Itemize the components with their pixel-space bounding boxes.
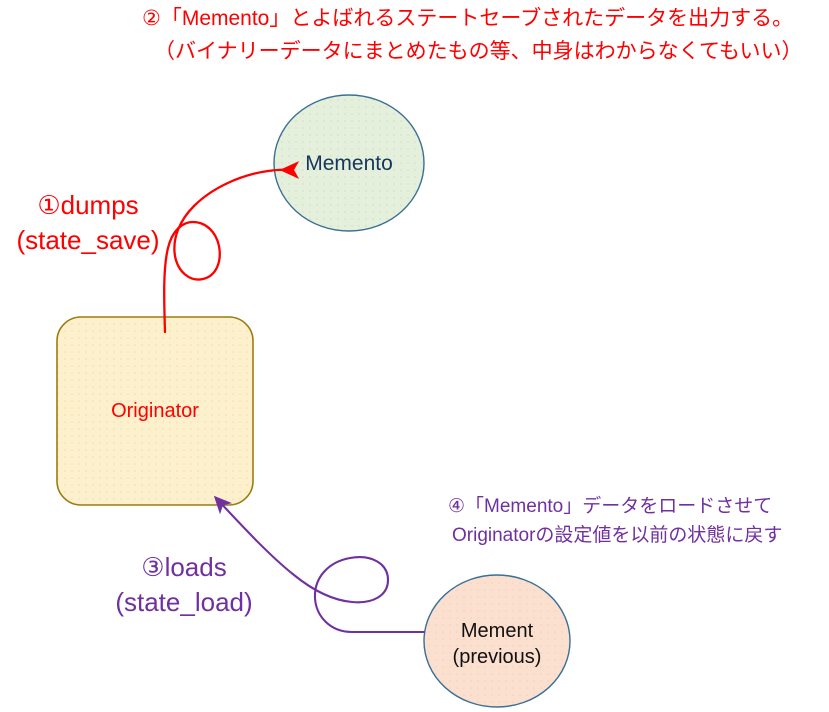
diagram-canvas: ②「Memento」とよばれるステートセーブされたデータを出力する。 （バイナリ… [0,0,829,712]
note-step2-line2: （バイナリーデータにまとめたもの等、中身はわからなくてもいい） [142,36,802,69]
memento-shape[interactable] [274,95,424,231]
originator-shape[interactable] [57,317,253,505]
note-step2: ②「Memento」とよばれるステートセーブされたデータを出力する。 （バイナリ… [142,3,802,68]
label-step3-line1: ③loads [100,550,268,585]
label-step1-dumps: ①dumps (state_save) [8,188,168,258]
dumps-arrow [164,170,285,332]
note-step4-line2: Originatorの設定値を以前の状態に戻す [448,521,782,550]
label-step3-line2: (state_load) [100,585,268,620]
label-step1-line1: ①dumps [8,188,168,223]
mement-previous-shape[interactable] [424,575,570,707]
note-step4: ④「Memento」データをロードさせて Originatorの設定値を以前の状… [448,492,782,551]
label-step1-line2: (state_save) [8,223,168,258]
label-step3-loads: ③loads (state_load) [100,550,268,620]
note-step2-line1: ②「Memento」とよばれるステートセーブされたデータを出力する。 [142,3,802,36]
note-step4-line1: ④「Memento」データをロードさせて [448,492,782,521]
